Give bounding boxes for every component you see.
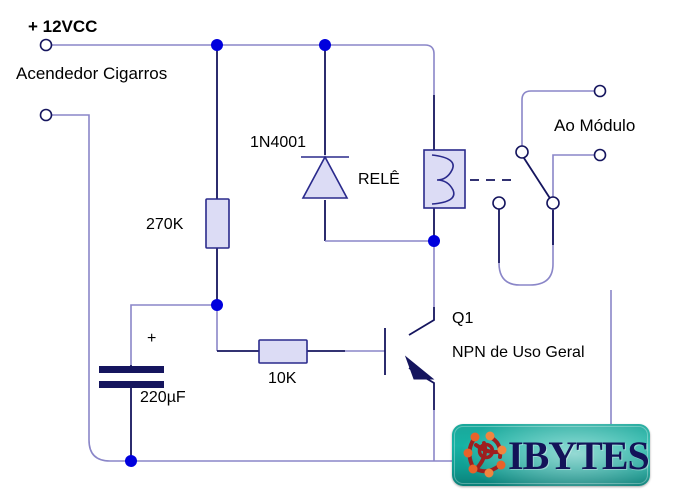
module-terminal-mid[interactable] [595, 150, 606, 161]
capacitor-label: 220µF [140, 390, 186, 406]
supply-label: + 12VCC [28, 18, 97, 35]
resistor-10k-label: 10K [268, 371, 296, 387]
supply-terminal[interactable] [41, 40, 52, 51]
transistor-ref-label: Q1 [452, 311, 473, 327]
relay-coil [424, 150, 465, 208]
contact-nc[interactable] [493, 197, 505, 209]
transistor-type-label: NPN de Uso Geral [452, 345, 585, 361]
cigar-lighter-label: Acendedor Cigarros [16, 65, 167, 82]
relay-label: RELÊ [358, 172, 400, 188]
diode-1n4001-wire [325, 45, 433, 241]
ibytes-logo: IBYTES [452, 424, 650, 486]
cigar-lighter-terminal[interactable] [41, 110, 52, 121]
module-output-label: Ao Módulo [554, 117, 635, 134]
diode-1n4001 [301, 157, 349, 198]
contact-common[interactable] [516, 146, 528, 158]
diode-label: 1N4001 [250, 135, 306, 151]
module-terminal-top[interactable] [595, 86, 606, 97]
resistor-10k [259, 340, 307, 363]
capacitor-polarity-label: + [147, 331, 156, 347]
circuit-diagram-page: .wire { stroke: #8a86c8; stroke-width: 1… [0, 0, 680, 502]
contact-no[interactable] [547, 197, 559, 209]
transistor-q1-wires [385, 307, 434, 461]
resistor-270k-label: 270K [146, 217, 183, 233]
brand-wordmark: IBYTES [508, 432, 648, 479]
resistor-270k [206, 199, 229, 248]
capacitor-220uf [99, 366, 164, 388]
